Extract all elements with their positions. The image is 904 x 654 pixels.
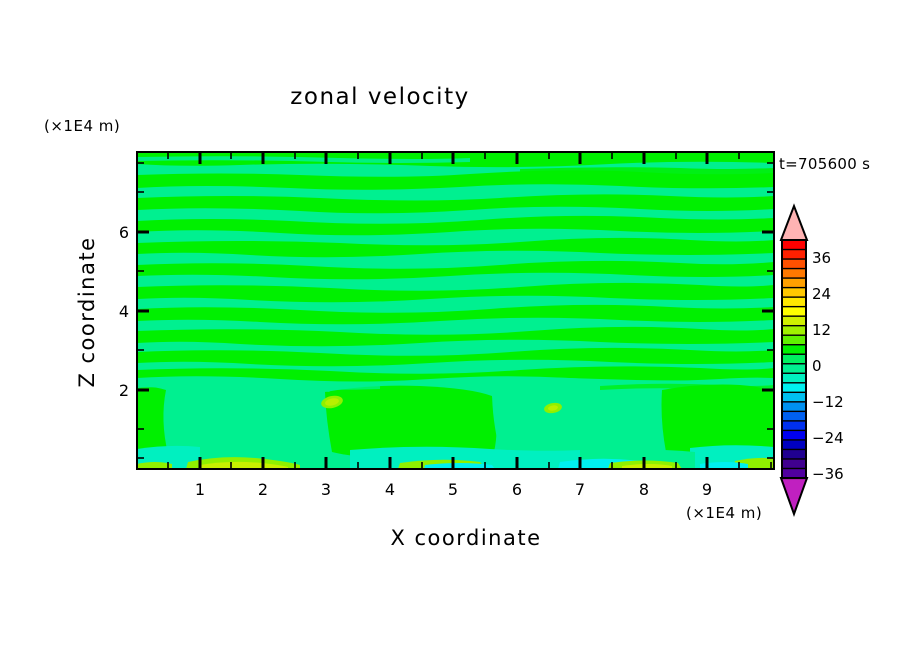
colorbar-tick-label: 12 — [812, 321, 831, 339]
colorbar-tick-label: 24 — [812, 285, 831, 303]
colorbar-band — [782, 373, 806, 383]
colorbar-band — [782, 449, 806, 459]
colorbar-tick-label: −36 — [812, 465, 844, 483]
x-axis-title: X coordinate — [236, 526, 696, 550]
colorbar-over-arrow — [781, 206, 807, 240]
colorbar-band — [782, 430, 806, 440]
colorbar-tick-label: −12 — [812, 393, 844, 411]
y-axis-title: Z coordinate — [75, 212, 99, 412]
colorbar-band — [782, 259, 806, 269]
time-annotation: t=705600 s — [779, 155, 870, 173]
contour-field — [0, 0, 904, 654]
colorbar-under-arrow — [781, 478, 807, 514]
colorbar-band — [782, 335, 806, 345]
colorbar-band — [782, 345, 806, 355]
colorbar-band — [782, 269, 806, 279]
colorbar-tick-label: −24 — [812, 429, 844, 447]
colorbar-band — [782, 288, 806, 298]
x-tick-label: 1 — [185, 480, 215, 499]
colorbar-band — [782, 383, 806, 393]
colorbar-band — [782, 316, 806, 326]
x-tick-label: 8 — [629, 480, 659, 499]
colorbar-band — [782, 364, 806, 374]
colorbar-band — [782, 440, 806, 450]
contour-plot-figure: zonal velocity (×1E4 m) — [0, 0, 904, 654]
colorbar-tick-label: 36 — [812, 249, 831, 267]
colorbar-tick-label: 0 — [812, 357, 822, 375]
x-tick-label: 9 — [692, 480, 722, 499]
x-tick-label: 2 — [248, 480, 278, 499]
colorbar-band — [782, 307, 806, 317]
field-bands — [137, 152, 774, 469]
colorbar-band — [782, 468, 806, 478]
x-tick-label: 6 — [502, 480, 532, 499]
colorbar-band — [782, 278, 806, 288]
colorbar-band — [782, 411, 806, 421]
x-tick-label: 7 — [565, 480, 595, 499]
x-axis-unit-label: (×1E4 m) — [686, 504, 762, 522]
y-tick-label: 6 — [103, 223, 129, 242]
colorbar-band — [782, 326, 806, 336]
colorbar-band — [782, 354, 806, 364]
colorbar-band — [782, 297, 806, 307]
y-tick-label: 2 — [103, 381, 129, 400]
colorbar-band — [782, 392, 806, 402]
colorbar-band — [782, 421, 806, 431]
colorbar-band — [782, 402, 806, 412]
colorbar-band — [782, 459, 806, 469]
x-tick-label: 3 — [311, 480, 341, 499]
colorbar — [781, 206, 807, 514]
colorbar-band — [782, 240, 806, 250]
x-tick-label: 5 — [438, 480, 468, 499]
colorbar-band — [782, 250, 806, 260]
x-tick-label: 4 — [375, 480, 405, 499]
y-tick-label: 4 — [103, 302, 129, 321]
